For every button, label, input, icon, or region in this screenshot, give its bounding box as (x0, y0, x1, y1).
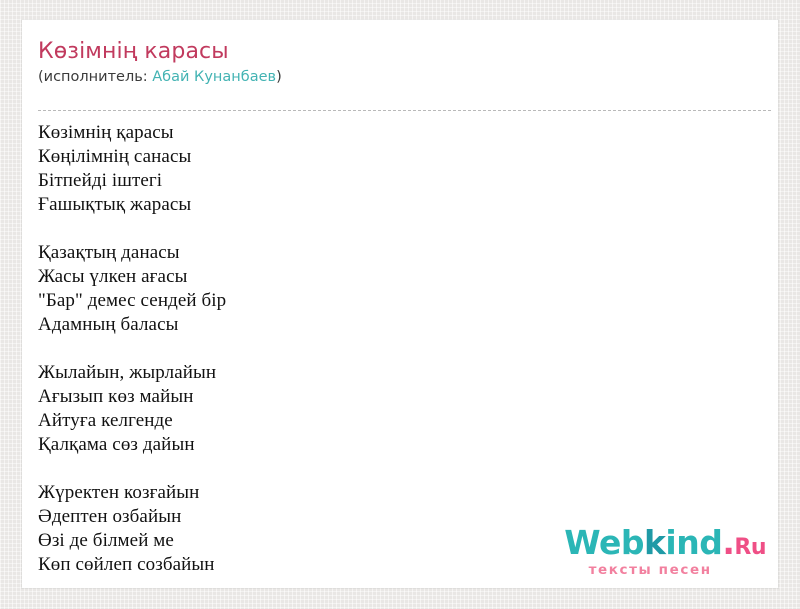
header-divider (38, 110, 771, 111)
logo-part-web: Web (564, 523, 644, 562)
artist-link[interactable]: Абай Кунанбаев (152, 69, 276, 85)
byline-prefix-label: (исполнитель: (38, 69, 152, 85)
song-header: Көзімнің карасы (исполнитель: Абай Кунан… (38, 38, 764, 87)
page-title: Көзімнің карасы (38, 38, 764, 65)
webkind-logo: Webkind.Ru тексты песен (564, 526, 766, 578)
logo-subtitle: тексты песен (564, 563, 766, 578)
logo-part-ru: Ru (734, 535, 766, 560)
logo-part-ind: ind (665, 523, 722, 562)
content-card: Көзімнің карасы (исполнитель: Абай Кунан… (22, 20, 778, 588)
logo-part-k: k (644, 523, 665, 562)
artist-byline: (исполнитель: Абай Кунанбаев) (38, 68, 764, 87)
lyrics-text: Көзімнің қарасы Көңілімнің санасы Бітпей… (38, 121, 764, 577)
logo-wordmark: Webkind.Ru (564, 526, 766, 565)
byline-suffix-label: ) (276, 69, 282, 85)
logo-part-dot: . (722, 523, 734, 562)
